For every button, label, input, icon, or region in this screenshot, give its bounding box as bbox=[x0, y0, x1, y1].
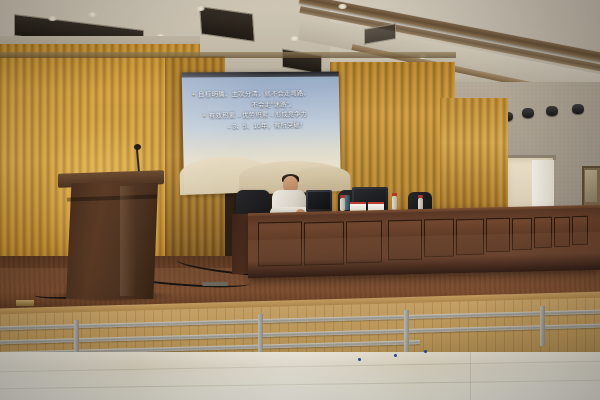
rail-post bbox=[404, 310, 409, 354]
floor-marker-icon bbox=[358, 358, 361, 361]
bottle-cap bbox=[340, 195, 345, 198]
screen-sheen bbox=[182, 72, 341, 193]
floor-marker-icon bbox=[424, 350, 427, 353]
downlight-icon bbox=[196, 6, 205, 11]
framed-picture-art bbox=[585, 170, 597, 202]
laptop-screen bbox=[308, 192, 330, 209]
curtain-rail bbox=[0, 52, 456, 58]
spotlight-icon bbox=[572, 104, 584, 114]
floor-reflection bbox=[0, 352, 600, 400]
downlight-icon bbox=[290, 36, 299, 41]
spotlight-icon bbox=[546, 106, 558, 116]
cable-connector bbox=[202, 282, 228, 286]
downlight-icon bbox=[48, 16, 57, 21]
downlight-icon bbox=[338, 4, 347, 9]
water-bottle[interactable] bbox=[340, 198, 345, 211]
bottle-cap bbox=[392, 193, 397, 196]
floor-marker-icon bbox=[394, 354, 397, 357]
water-bottle[interactable] bbox=[392, 196, 397, 210]
projection-screen: •目标明确、主次分清，就不会走弯路、 不会走"迷路"。 •有效积累→优势积累→形… bbox=[182, 72, 341, 193]
microphone-icon bbox=[134, 144, 141, 150]
bottle-cap bbox=[418, 195, 423, 198]
rail-post bbox=[540, 306, 545, 346]
floor-plate bbox=[16, 300, 34, 306]
downlight-icon bbox=[88, 12, 97, 17]
podium-highlight bbox=[120, 186, 136, 296]
auditorium-photo: •目标明确、主次分清，就不会走弯路、 不会走"迷路"。 •有效积累→优势积累→形… bbox=[0, 0, 600, 400]
spotlight-icon bbox=[522, 108, 534, 118]
